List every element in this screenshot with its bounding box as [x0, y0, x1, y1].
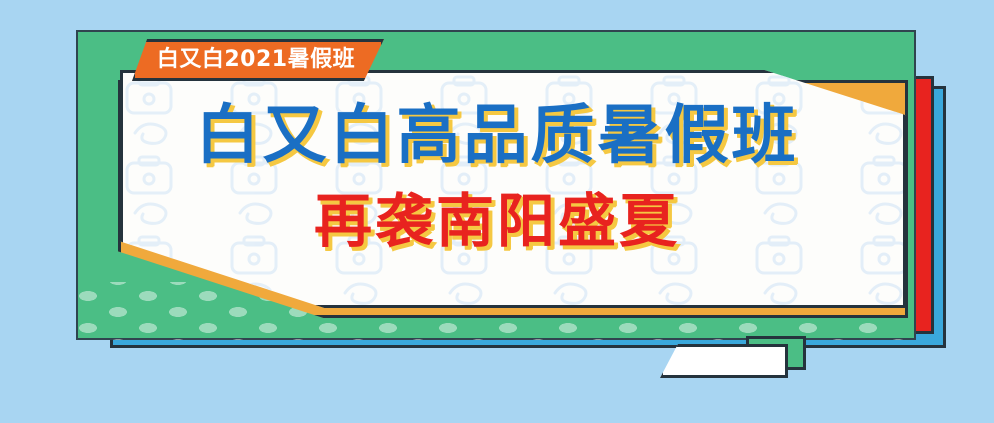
- promo-poster: 白又白2021暑假班 白又白高品质暑假班 再袭南阳盛夏: [0, 0, 994, 423]
- headline-primary: 白又白高品质暑假班: [0, 104, 994, 168]
- promo-tag-ribbon: 白又白2021暑假班: [132, 39, 384, 81]
- headline-secondary: 再袭南阳盛夏: [0, 192, 994, 250]
- promo-tag-label: 白又白2021暑假班: [157, 49, 359, 71]
- white-parallelogram-shape: [660, 344, 788, 378]
